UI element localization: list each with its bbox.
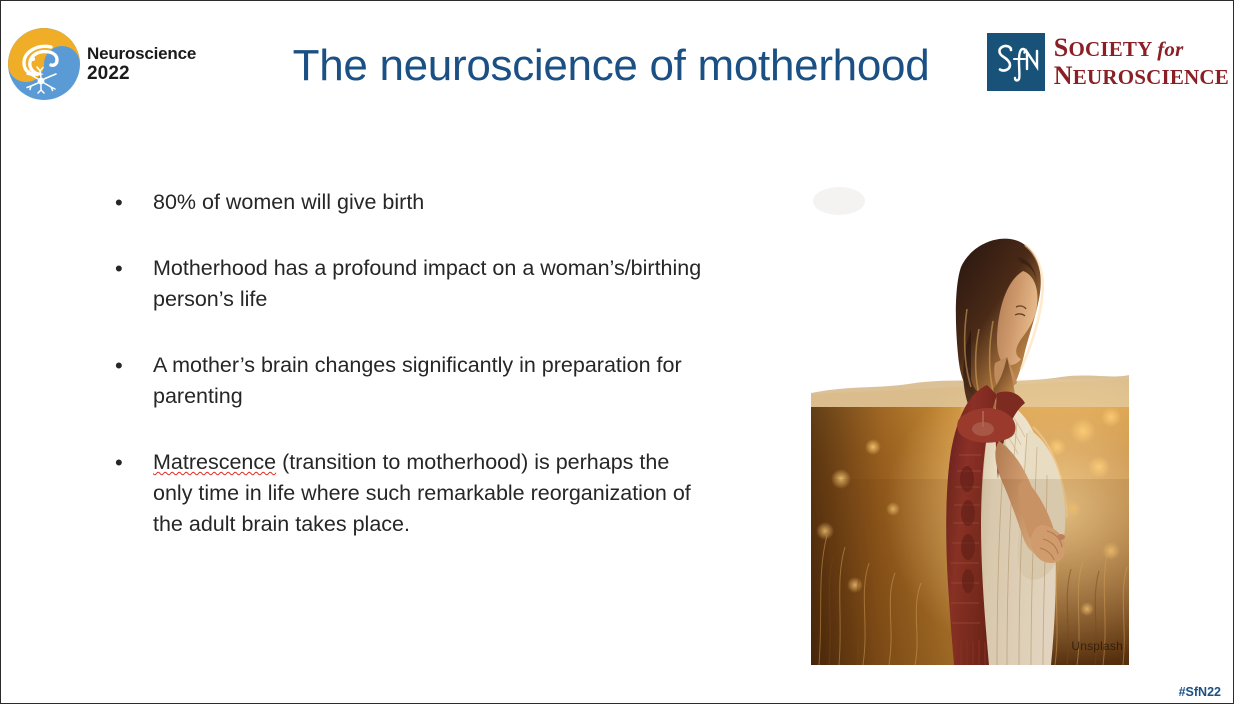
hashtag-sfn22: #SfN22	[1179, 685, 1221, 699]
pregnant-woman-in-field-photo: Unsplash	[811, 179, 1129, 665]
list-item: • 80% of women will give birth	[109, 187, 749, 218]
list-item: • A mother’s brain changes significantly…	[109, 350, 749, 412]
neuroscience-2022-logo: Neuroscience 2022	[7, 25, 185, 103]
bullet-marker-icon: •	[109, 253, 153, 284]
neuroscience-logo-line2: 2022	[87, 63, 196, 84]
bullet-matrescence: Matrescence (transition to motherhood) i…	[153, 447, 713, 540]
sfn-wordmark-neuroscience-cap: N	[1054, 61, 1073, 90]
society-for-neuroscience-logo: SOCIETY for NEUROSCIENCE	[987, 33, 1229, 91]
bullet-birth-statistic: 80% of women will give birth	[153, 187, 424, 218]
sfn-monogram-icon	[987, 33, 1045, 91]
misspelled-word: Matrescence	[153, 450, 276, 474]
list-item: • Matrescence (transition to motherhood)…	[109, 447, 749, 540]
sfn-wordmark-society-cap: S	[1054, 33, 1069, 62]
bullet-marker-icon: •	[109, 187, 153, 218]
bullet-profound-impact: Motherhood has a profound impact on a wo…	[153, 253, 713, 315]
bullet-list: • 80% of women will give birth • Motherh…	[109, 187, 749, 540]
slide-canvas: Neuroscience 2022 The neuroscience of mo…	[0, 0, 1234, 704]
slide-title: The neuroscience of motherhood	[201, 41, 1021, 91]
neuroscience-yin-yang-icon	[7, 27, 81, 101]
neuroscience-2022-wordmark: Neuroscience 2022	[87, 44, 196, 84]
bullet-marker-icon: •	[109, 447, 153, 478]
bullet-marker-icon: •	[109, 350, 153, 381]
sfn-wordmark-for: for	[1157, 37, 1183, 61]
sfn-wordmark-society-rest: OCIETY	[1068, 37, 1151, 61]
neuroscience-logo-line1: Neuroscience	[87, 44, 196, 63]
sfn-wordmark: SOCIETY for NEUROSCIENCE	[1054, 34, 1229, 89]
list-item: • Motherhood has a profound impact on a …	[109, 253, 749, 315]
bullet-brain-changes: A mother’s brain changes significantly i…	[153, 350, 713, 412]
sfn-wordmark-neuroscience-rest: EUROSCIENCE	[1073, 65, 1229, 89]
